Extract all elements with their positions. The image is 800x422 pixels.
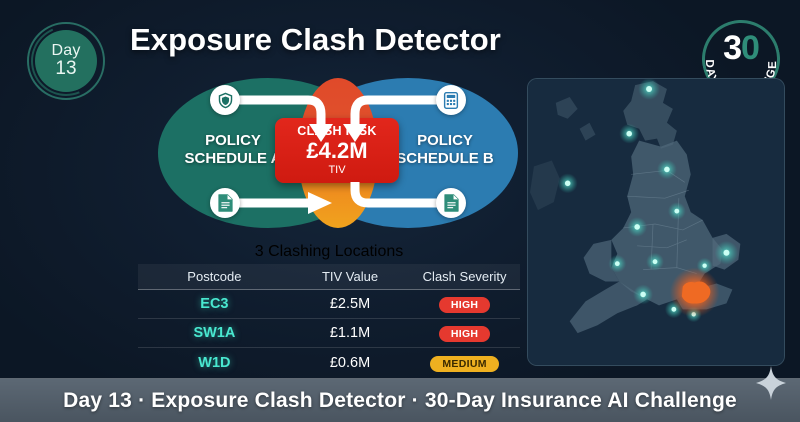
page-title: Exposure Clash Detector <box>130 22 501 58</box>
footer-text: Day 13 · Exposure Clash Detector · 30-Da… <box>63 389 737 413</box>
cell-postcode: EC3 <box>200 296 228 312</box>
clash-count-caption: 3 Clashing Locations <box>138 243 520 261</box>
clash-count-text: 3 Clashing Locations <box>255 243 404 260</box>
shield-icon <box>210 85 240 115</box>
venn-diagram: POLICY SCHEDULE A POLICY SCHEDULE B CLAS… <box>158 78 518 228</box>
map-hotspot-london <box>670 268 720 318</box>
uk-map-svg <box>528 79 784 365</box>
table-row[interactable]: SW1A £1.1M HIGH <box>138 319 520 348</box>
column-header-postcode: Postcode <box>138 269 291 284</box>
cell-tiv-value: £0.6M <box>330 355 370 371</box>
day-badge: Day 13 <box>27 22 105 100</box>
cell-postcode: SW1A <box>193 325 235 341</box>
status-badge: MEDIUM <box>430 356 498 372</box>
document-icon <box>210 188 240 218</box>
document-icon <box>436 188 466 218</box>
column-header-clash-severity: Clash Severity <box>409 269 520 284</box>
calculator-icon <box>436 85 466 115</box>
table-row[interactable]: W1D £0.6M MEDIUM <box>138 348 520 377</box>
infographic-canvas: Day 13 Exposure Clash Detector 30 DAY CH… <box>0 0 800 422</box>
day-badge-number: 13 <box>55 59 76 78</box>
status-badge: HIGH <box>439 326 490 342</box>
cell-tiv-value: £2.5M <box>330 296 370 312</box>
cell-tiv-value: £1.1M <box>330 325 370 341</box>
table-header-row: Postcode TIV Value Clash Severity <box>138 264 520 290</box>
table-row[interactable]: EC3 £2.5M HIGH <box>138 290 520 319</box>
clashing-locations-table: Postcode TIV Value Clash Severity EC3 £2… <box>138 264 520 377</box>
column-header-tiv-value: TIV Value <box>291 269 409 284</box>
day-badge-core: Day 13 <box>35 30 97 92</box>
sparkle-icon <box>756 366 786 400</box>
cell-postcode: W1D <box>198 355 230 371</box>
uk-exposure-map[interactable] <box>527 78 785 366</box>
status-badge: HIGH <box>439 297 490 313</box>
day-badge-word: Day <box>51 43 80 59</box>
footer-banner: Day 13 · Exposure Clash Detector · 30-Da… <box>0 378 800 422</box>
